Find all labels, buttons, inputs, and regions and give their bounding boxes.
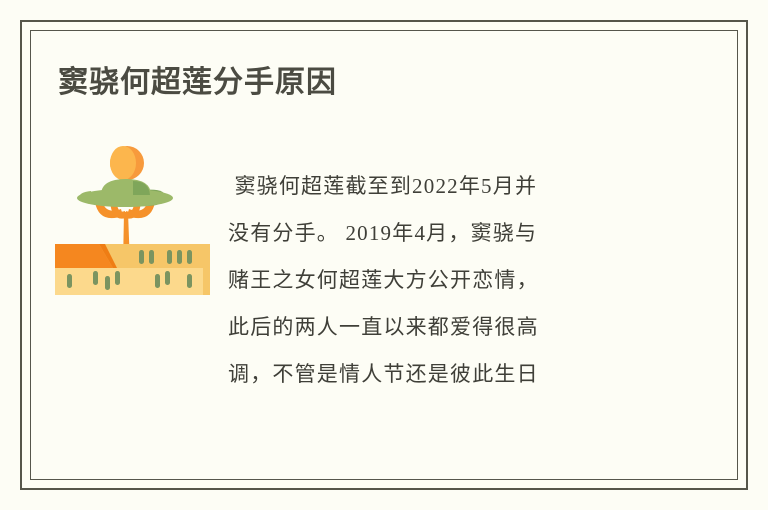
- savanna-scene-svg: [55, 140, 210, 295]
- article-card: 窦骁何超莲分手原因: [0, 0, 768, 510]
- article-line: 此后的两人一直以来都爱得很高: [228, 304, 648, 351]
- article-line: 窦骁何超莲截至到2022年5月并: [228, 163, 648, 210]
- article-body: 窦骁何超莲截至到2022年5月并 没有分手。 2019年4月，窦骁与 赌王之女何…: [228, 163, 648, 398]
- savanna-illustration: [55, 140, 210, 295]
- sun-icon: [110, 146, 144, 180]
- page-title: 窦骁何超莲分手原因: [58, 64, 337, 102]
- article-line: 调，不管是情人节还是彼此生日: [228, 351, 648, 398]
- ground-layers: [55, 244, 210, 295]
- article-line: 赌王之女何超莲大方公开恋情，: [228, 257, 648, 304]
- article-line: 没有分手。 2019年4月，窦骁与: [228, 210, 648, 257]
